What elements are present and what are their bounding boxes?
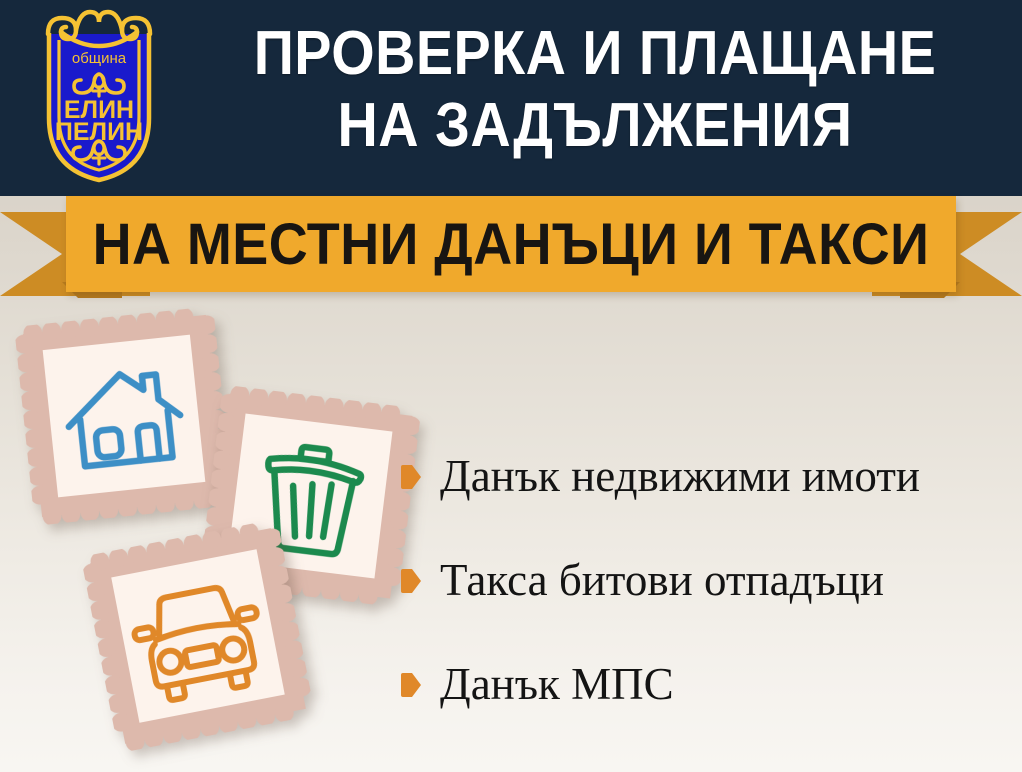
- svg-text:ПЕЛИН: ПЕЛИН: [55, 118, 143, 146]
- svg-text:община: община: [72, 50, 127, 67]
- stamp-card-house: [14, 306, 234, 526]
- ribbon-subtitle: НА МЕСТНИ ДАНЪЦИ И ТАКСИ: [97, 196, 925, 292]
- page-title: ПРОВЕРКА И ПЛАЩАНЕ НА ЗАДЪЛЖЕНИЯ: [226, 18, 964, 162]
- pentagon-arrow-right-icon: [400, 672, 422, 698]
- poster-root: ПРОВЕРКА И ПЛАЩАНЕ НА ЗАДЪЛЖЕНИЯ: [0, 0, 1022, 772]
- list-item[interactable]: Данък недвижими имоти: [400, 424, 1010, 528]
- pentagon-arrow-right-icon: [400, 568, 422, 594]
- list-item[interactable]: Данък МПС: [400, 632, 1010, 736]
- tax-type-list: Данък недвижими имоти Такса битови отпад…: [400, 424, 1010, 736]
- stamp-card-car: [81, 519, 315, 753]
- pentagon-arrow-right-icon: [400, 464, 422, 490]
- list-item-label: Данък недвижими имоти: [440, 451, 920, 501]
- list-item-label: Такса битови отпадъци: [440, 555, 884, 605]
- list-item[interactable]: Такса битови отпадъци: [400, 528, 1010, 632]
- municipality-crest-icon: община ЕЛИН ПЕЛИН: [24, 6, 174, 188]
- list-item-label: Данък МПС: [440, 659, 674, 709]
- ribbon-banner: НА МЕСТНИ ДАНЪЦИ И ТАКСИ: [0, 196, 1022, 312]
